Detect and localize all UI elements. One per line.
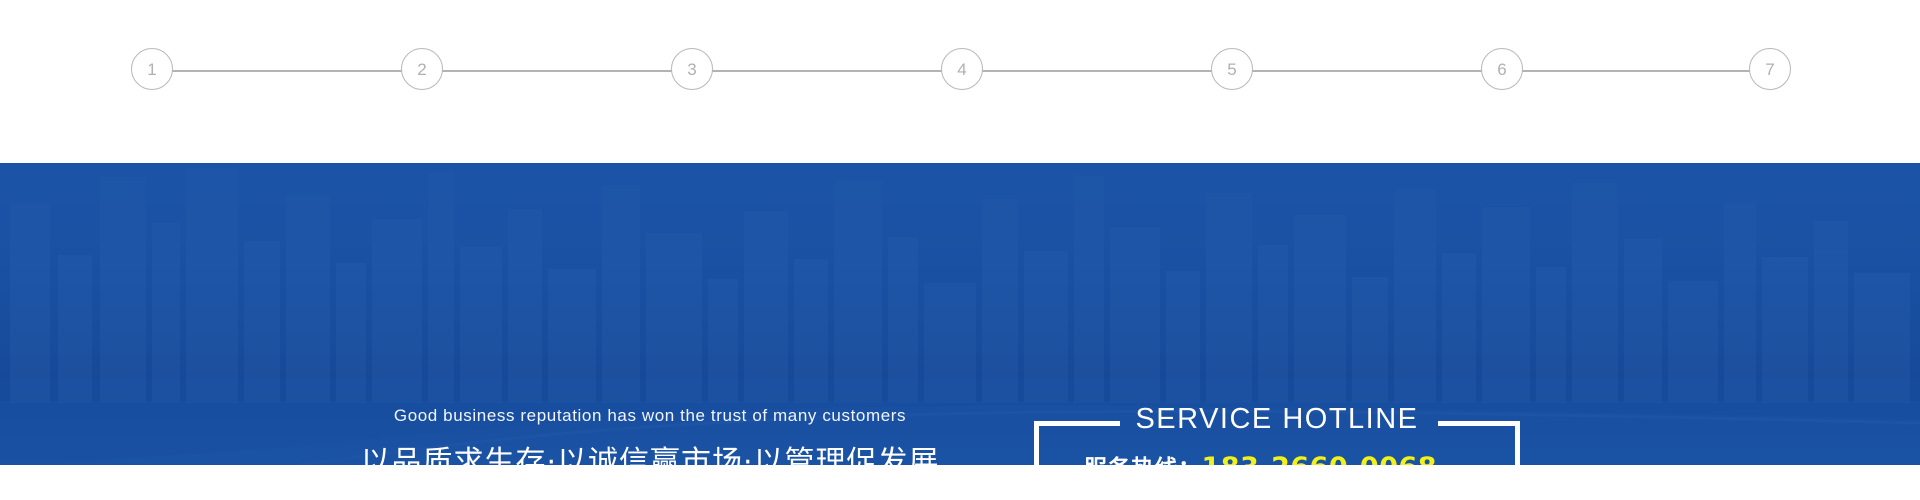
step-label-2: 2 <box>417 61 426 78</box>
step-node-2[interactable]: 2 <box>401 48 443 90</box>
step-label-5: 5 <box>1227 61 1236 78</box>
step-label-1: 1 <box>147 61 156 78</box>
hotline-title: SERVICE HOTLINE <box>1034 403 1520 436</box>
step-node-1[interactable]: 1 <box>131 48 173 90</box>
hotline-label: 服务热线： <box>1084 449 1202 465</box>
step-node-3[interactable]: 3 <box>671 48 713 90</box>
step-label-4: 4 <box>957 61 966 78</box>
step-indicator-bar: 1 2 3 4 5 6 7 <box>152 70 1770 72</box>
hotline-number-list: 服务热线： 183-2660-0068 0551-63749777 <box>1034 449 1520 465</box>
banner-color-overlay <box>0 163 1920 465</box>
step-label-3: 3 <box>687 61 696 78</box>
hotline-number-primary[interactable]: 183-2660-0068 <box>1202 452 1438 465</box>
promo-banner: Good business reputation has won the tru… <box>0 163 1920 465</box>
service-hotline-box: SERVICE HOTLINE 服务热线： 183-2660-0068 0551… <box>1034 411 1520 465</box>
step-indicator-section: 1 2 3 4 5 6 7 <box>0 0 1920 163</box>
slogan-english: Good business reputation has won the tru… <box>360 406 940 426</box>
step-label-6: 6 <box>1497 61 1506 78</box>
hotline-row-primary: 服务热线： 183-2660-0068 <box>1034 449 1520 465</box>
step-node-4[interactable]: 4 <box>941 48 983 90</box>
step-node-7[interactable]: 7 <box>1749 48 1791 90</box>
step-label-7: 7 <box>1765 61 1774 78</box>
slogan-headline: 以品质求生存·以诚信赢市场·以管理促发展 <box>360 437 940 465</box>
step-node-6[interactable]: 6 <box>1481 48 1523 90</box>
slogan-block: Good business reputation has won the tru… <box>360 406 940 465</box>
step-node-5[interactable]: 5 <box>1211 48 1253 90</box>
